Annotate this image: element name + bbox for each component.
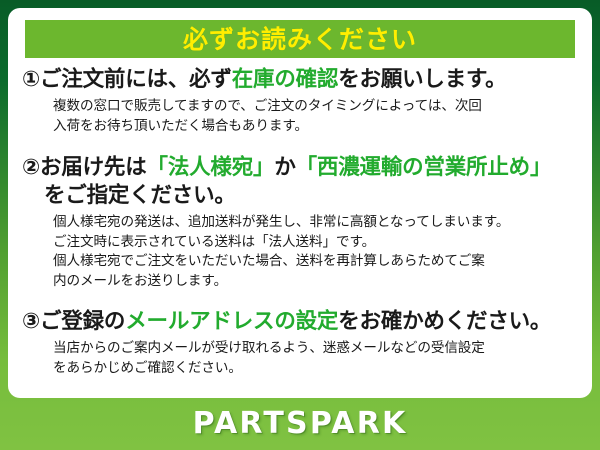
page-title: 必ずお読みください	[183, 27, 417, 52]
notice-banner: 必ずお読みください ①ご注文前には、必ず在庫の確認をお願いします。 複数の窓口で…	[0, 0, 600, 450]
item-2-number: ②	[22, 155, 40, 180]
item-2-body-line-4: 内のメールをお送りします。	[22, 272, 584, 292]
item-1-heading-highlight: 在庫の確認	[232, 67, 339, 92]
item-2-heading-before: お届け先は	[40, 155, 147, 180]
item-1-body-line-1: 複数の窓口で販売してますので、ご注文のタイミングによっては、次回	[22, 94, 584, 117]
item-2-heading-middle: か	[274, 155, 295, 180]
item-2-body-line-1: 個人様宅宛の発送は、追加送料が発生し、非常に高額となってしまいます。	[22, 210, 584, 233]
item-3-heading-after: をお確かめください。	[338, 309, 551, 334]
item-2-body-line-3: 個人様宅宛でご注文をいただいた場合、送料を再計算しあらためてご案	[22, 252, 584, 272]
item-3-heading-highlight: メールアドレスの設定	[125, 309, 338, 334]
item-1-heading-after: をお願いします。	[338, 67, 506, 92]
brand-logo-text: PARTSPARK	[193, 409, 408, 439]
item-3-body-line-1: 当店からのご案内メールが受け取れるよう、迷惑メールなどの受信設定	[22, 336, 584, 359]
item-3-heading: ③ご登録のメールアドレスの設定をお確かめください。	[22, 308, 584, 336]
item-2-body-line-2: ご注文時に表示されている送料は「法人送料」です。	[22, 233, 584, 253]
footer-brand-bar: PARTSPARK	[0, 398, 600, 450]
header-title-bar: 必ずお読みください	[25, 20, 575, 58]
spacer-2	[8, 291, 592, 308]
notice-item-3: ③ご登録のメールアドレスの設定をお確かめください。 当店からのご案内メールが受け…	[8, 308, 592, 378]
notice-item-list: ①ご注文前には、必ず在庫の確認をお願いします。 複数の窓口で販売してますので、ご…	[8, 66, 592, 378]
notice-card: 必ずお読みください ①ご注文前には、必ず在庫の確認をお願いします。 複数の窓口で…	[8, 8, 592, 398]
item-2-heading-highlight-2: 「西濃運輸の営業所止め」	[296, 155, 552, 180]
item-1-number: ①	[22, 67, 40, 92]
item-1-body-line-2: 入荷をお待ち頂いただく場合もあります。	[22, 117, 584, 137]
item-1-heading-before: ご注文前には、必ず	[40, 67, 232, 92]
spacer-1	[8, 136, 592, 154]
item-1-heading: ①ご注文前には、必ず在庫の確認をお願いします。	[22, 66, 584, 94]
item-2-heading: ②お届け先は「法人様宛」か「西濃運輸の営業所止め」	[22, 154, 584, 182]
item-2-heading-line-2: をご指定ください。	[22, 182, 584, 210]
notice-item-1: ①ご注文前には、必ず在庫の確認をお願いします。 複数の窓口で販売してますので、ご…	[8, 66, 592, 136]
item-3-heading-before: ご登録の	[40, 309, 125, 334]
notice-item-2: ②お届け先は「法人様宛」か「西濃運輸の営業所止め」 をご指定ください。 個人様宅…	[8, 154, 592, 291]
item-2-heading-highlight-1: 「法人様宛」	[147, 155, 275, 180]
item-3-body-line-2: をあらかじめご確認ください。	[22, 359, 584, 379]
item-3-number: ③	[22, 309, 40, 334]
